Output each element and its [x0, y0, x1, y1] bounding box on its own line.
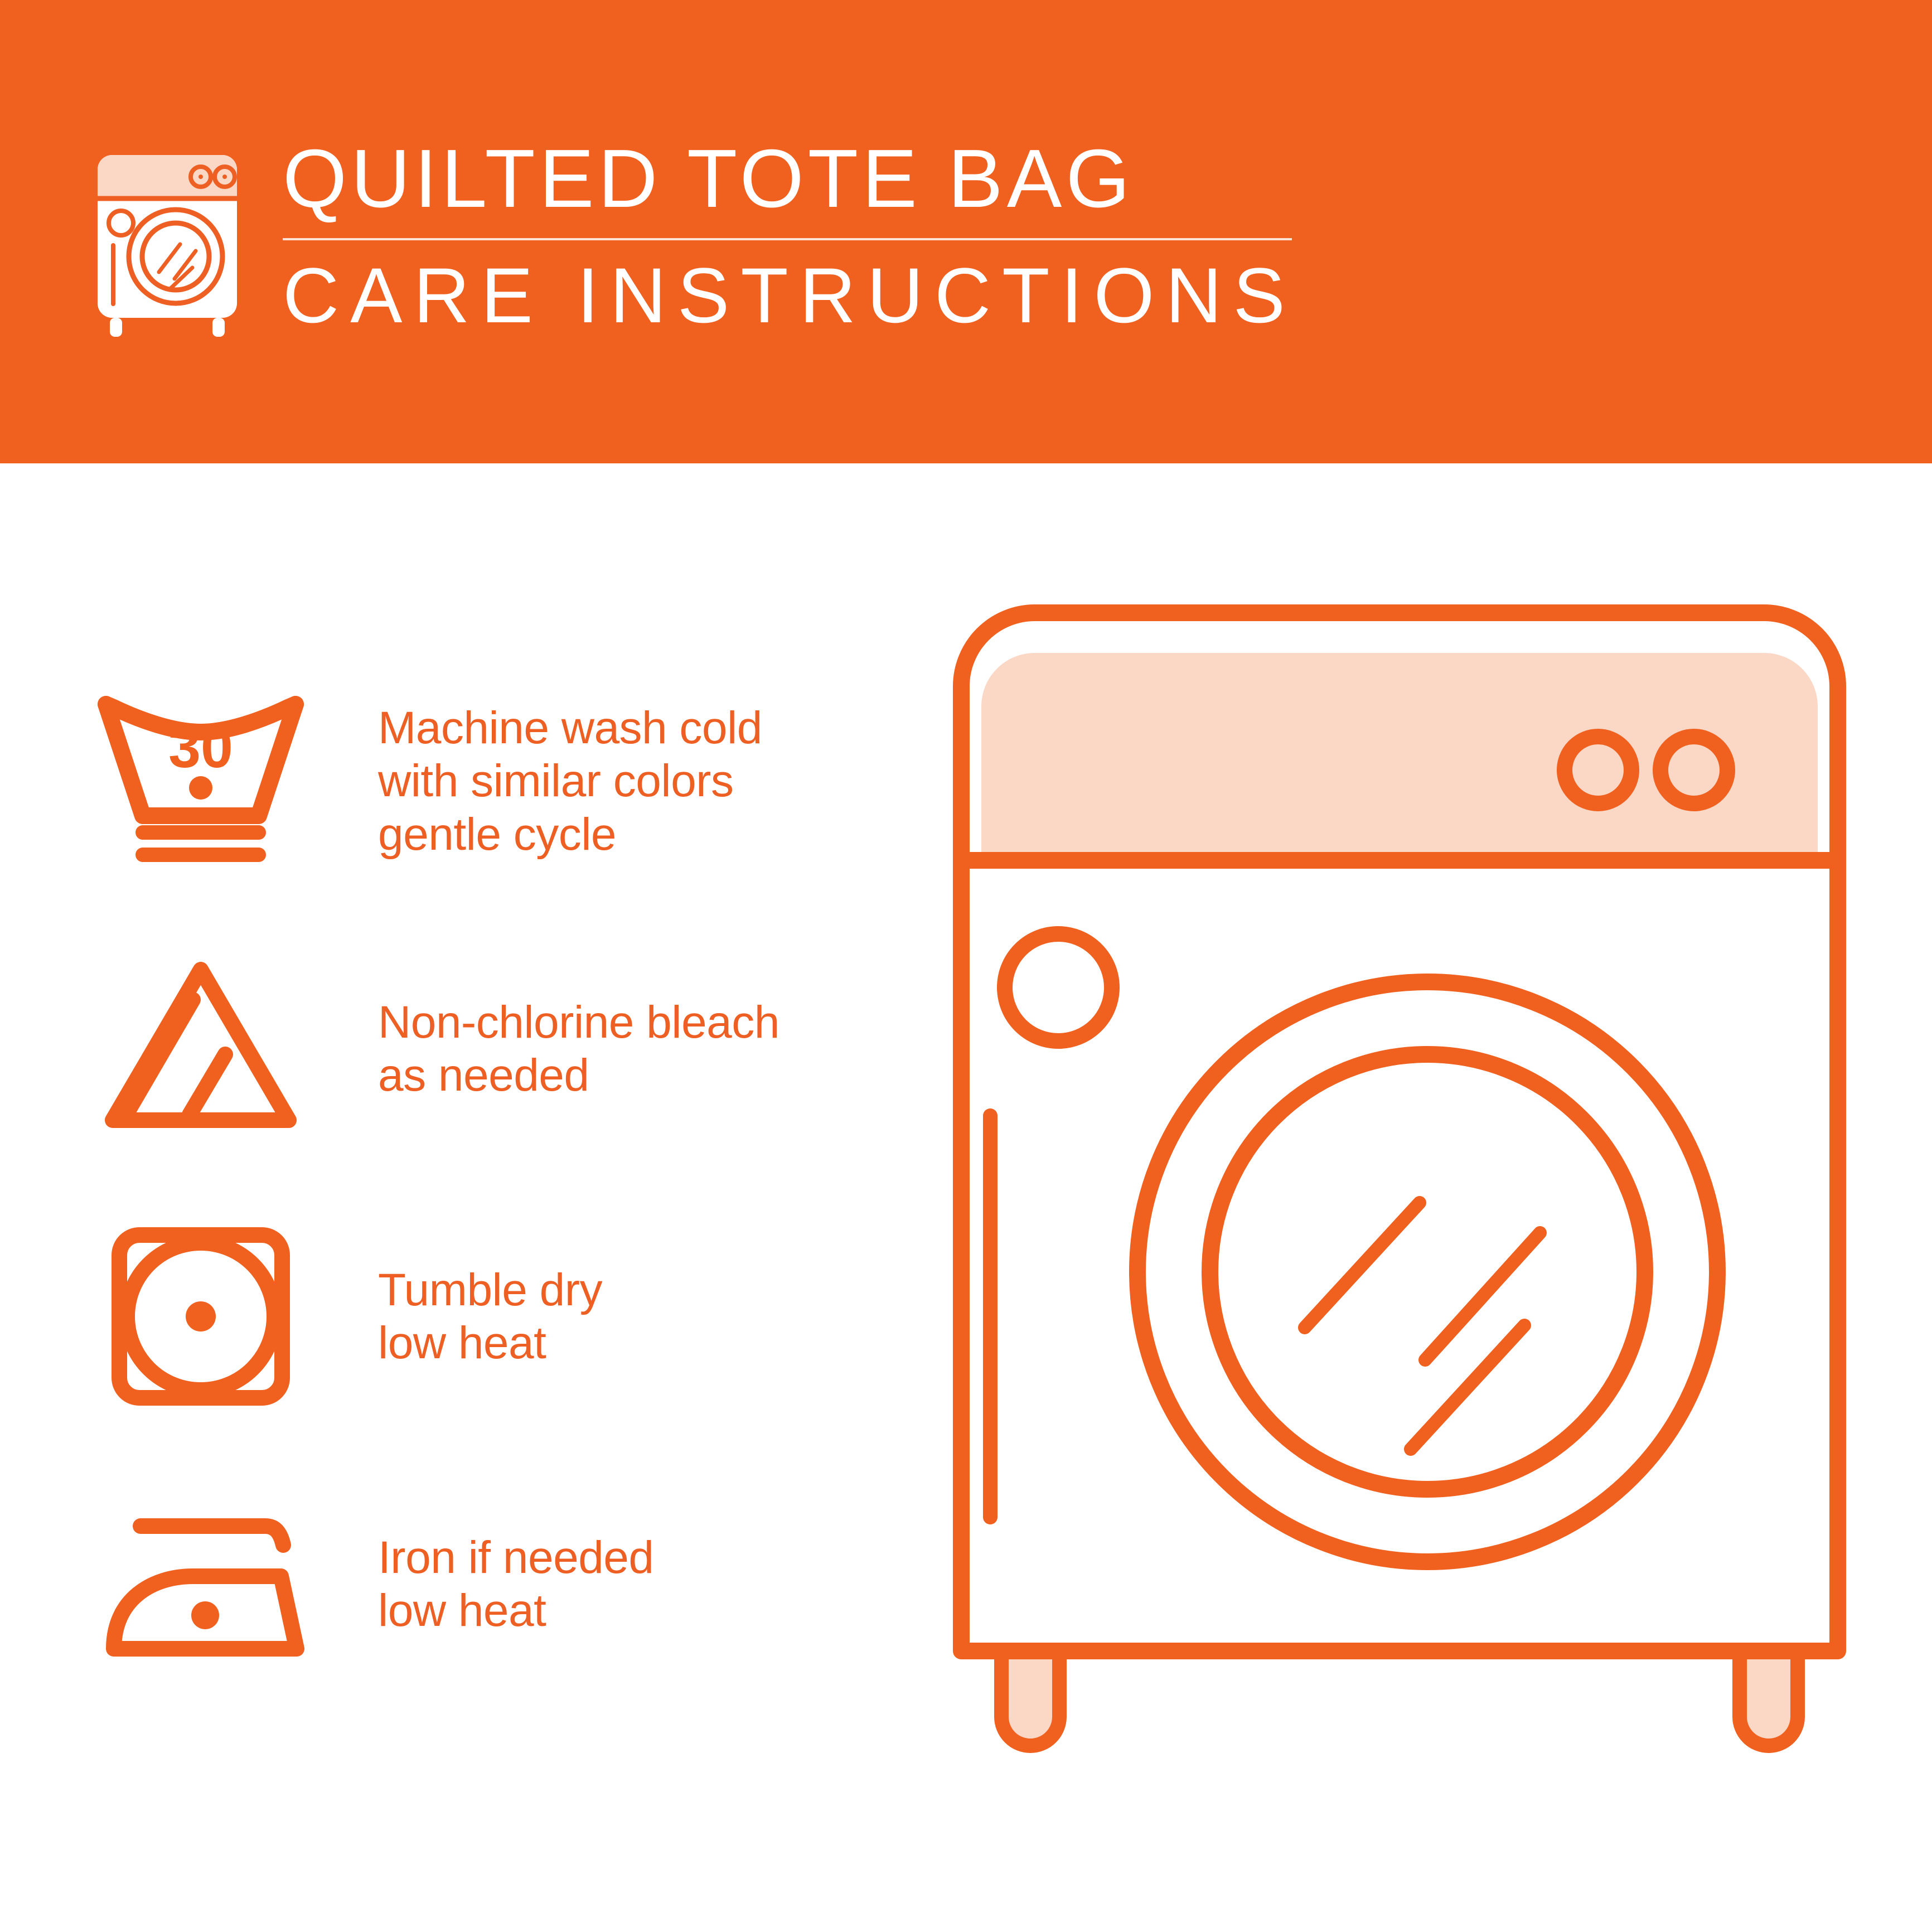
header-banner: QUILTED TOTE BAG CARE INSTRUCTIONS — [0, 0, 1932, 463]
care-label-wash: Machine wash cold with similar colors ge… — [312, 701, 959, 860]
care-row-iron: Iron if needed low heat — [89, 1450, 959, 1718]
title-divider — [283, 238, 1292, 240]
care-label-bleach: Non-chlorine bleach as needed — [312, 996, 959, 1102]
control-panel — [981, 653, 1818, 860]
washing-machine-icon — [86, 145, 248, 340]
wash-tub-30-gentle-icon: 30 — [89, 670, 312, 893]
care-label-iron: Iron if needed low heat — [312, 1531, 959, 1637]
front-load-washing-machine-illustration — [948, 553, 1873, 1790]
wash-temp-label: 30 — [168, 715, 233, 780]
header-titles: QUILTED TOTE BAG CARE INSTRUCTIONS — [283, 136, 1296, 336]
iron-low-heat-icon — [89, 1473, 312, 1696]
tumble-dry-low-heat-icon — [89, 1205, 312, 1428]
care-instructions-infographic: QUILTED TOTE BAG CARE INSTRUCTIONS 30 — [0, 0, 1932, 1932]
care-row-tumble-dry: Tumble dry low heat — [89, 1183, 959, 1450]
care-row-bleach: Non-chlorine bleach as needed — [89, 915, 959, 1183]
care-instruction-list: 30 Machine wash cold with similar colors… — [89, 647, 959, 1718]
body-area: 30 Machine wash cold with similar colors… — [0, 463, 1932, 1932]
header-content: QUILTED TOTE BAG CARE INSTRUCTIONS — [86, 136, 1296, 340]
page-subtitle: CARE INSTRUCTIONS — [283, 256, 1296, 336]
care-label-tumble-dry: Tumble dry low heat — [312, 1263, 959, 1369]
care-row-wash: 30 Machine wash cold with similar colors… — [89, 647, 959, 915]
bleach-triangle-nonchlorine-icon — [89, 937, 312, 1160]
page-title: QUILTED TOTE BAG — [283, 137, 1296, 221]
